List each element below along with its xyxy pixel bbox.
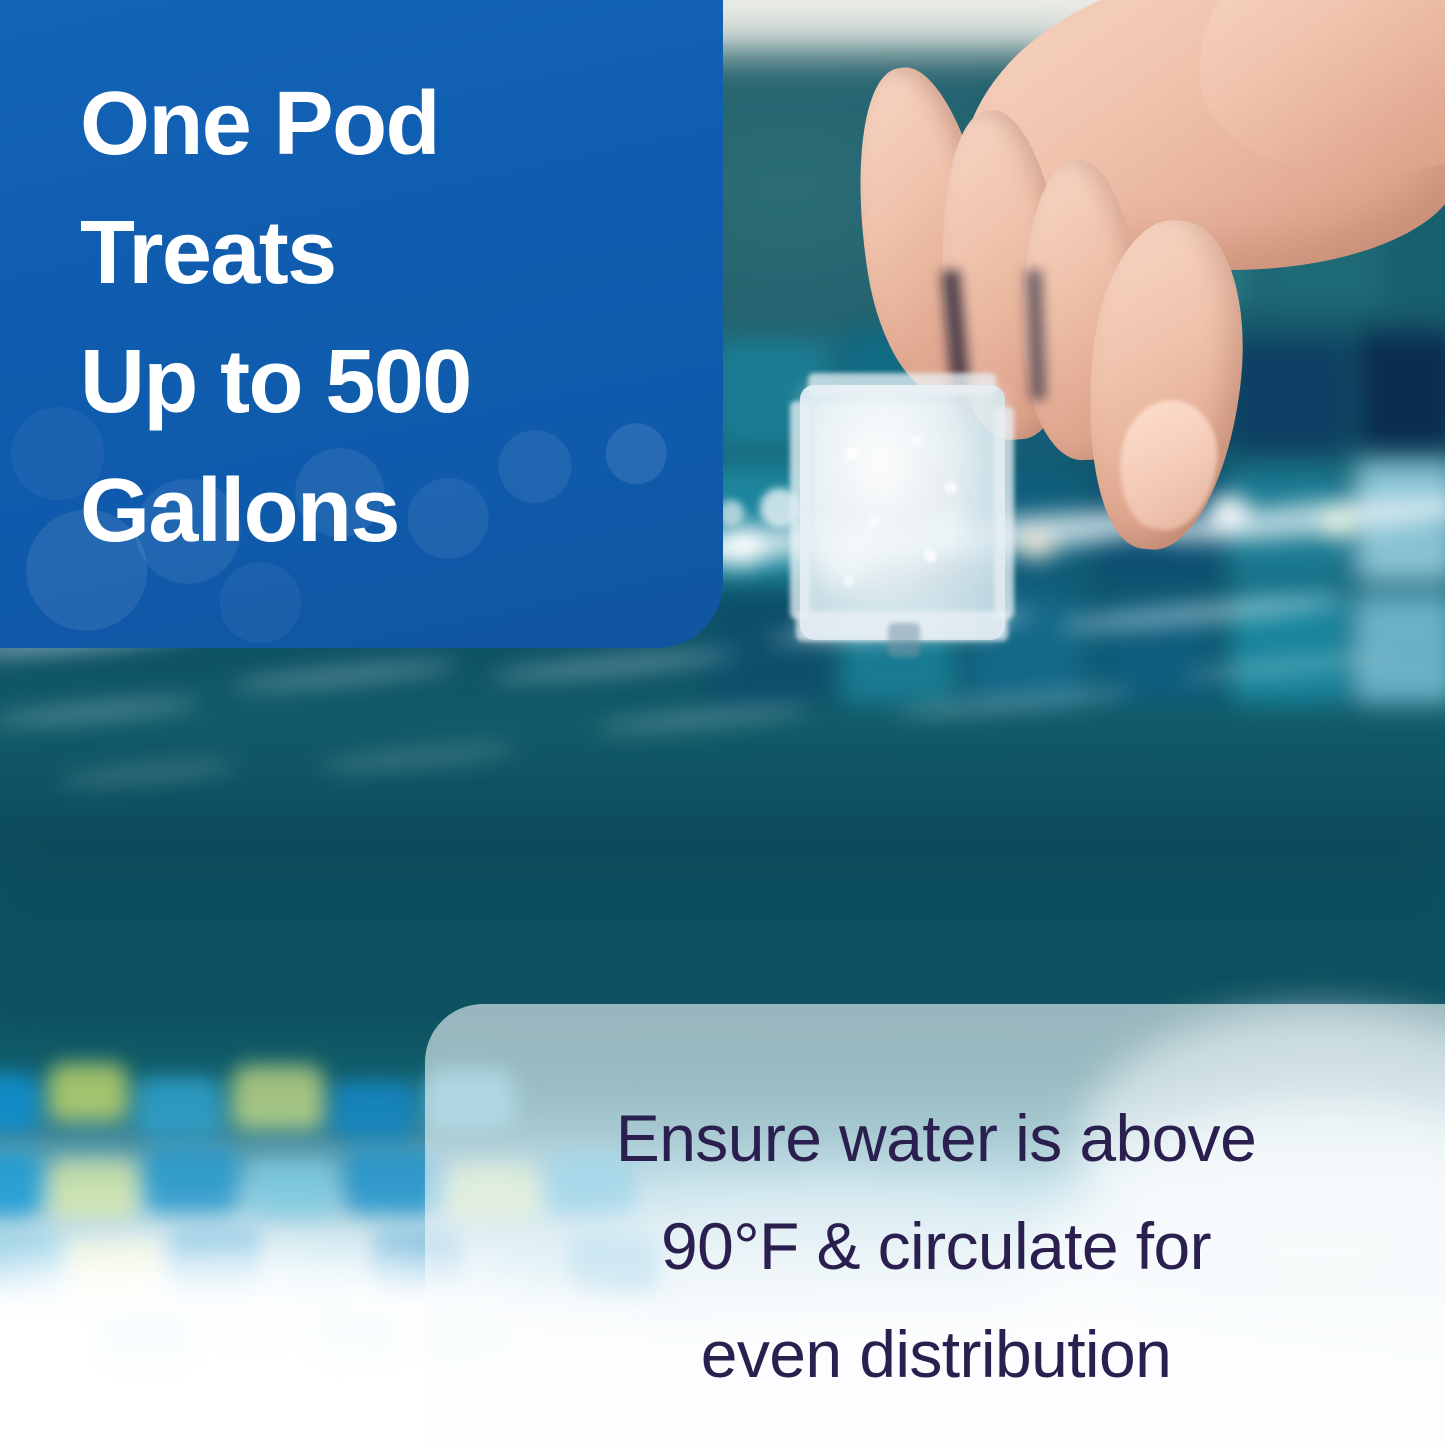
headline-line-4: Gallons — [80, 447, 680, 576]
caption-line-2: 90°F & circulate for — [455, 1192, 1417, 1300]
product-feature-image: One Pod Treats Up to 500 Gallons Ensure … — [0, 0, 1445, 1445]
caption-line-3: even distribution — [455, 1300, 1417, 1408]
pool-treatment-pod — [800, 385, 1005, 640]
pod-film-edge-top — [808, 373, 996, 395]
page-title: One Pod Treats Up to 500 Gallons — [80, 60, 680, 576]
headline-card: One Pod Treats Up to 500 Gallons — [0, 0, 723, 648]
pod-film-edge-right — [994, 407, 1014, 619]
water-bokeh-dot — [760, 488, 800, 528]
headline-line-2: Treats — [80, 189, 680, 318]
pod-bottom-pleat — [888, 623, 920, 657]
instruction-text: Ensure water is above 90°F & circulate f… — [455, 1084, 1417, 1408]
pod-granules — [814, 403, 990, 615]
instruction-panel: Ensure water is above 90°F & circulate f… — [425, 1004, 1445, 1445]
headline-line-3: Up to 500 — [80, 318, 680, 447]
headline-line-1: One Pod — [80, 60, 680, 189]
caption-line-1: Ensure water is above — [455, 1084, 1417, 1192]
